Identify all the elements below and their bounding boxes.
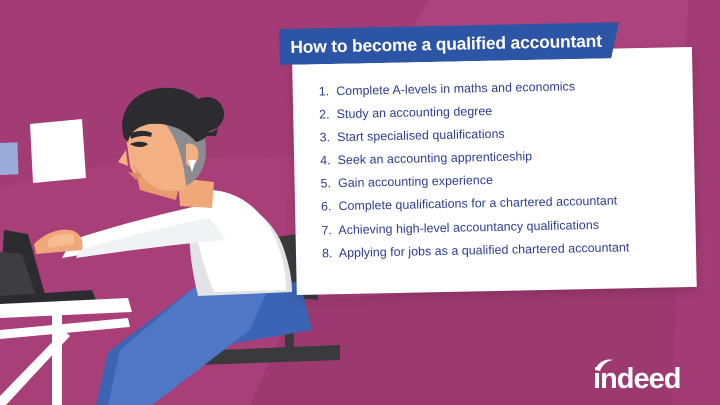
list-item-number: 5. (320, 173, 334, 196)
steps-list: 1. Complete A-levels in maths and econom… (292, 47, 696, 266)
list-item-label: Seek an accounting apprenticeship (337, 149, 532, 167)
list-item-number: 3. (319, 126, 333, 149)
list-item-label: Achieving high-level accountancy qualifi… (338, 217, 599, 236)
list-item-label: Complete qualifications for a chartered … (338, 194, 617, 214)
nose (118, 150, 128, 166)
list-item-label: Applying for jobs as a qualified charter… (339, 240, 630, 260)
indeed-logo: indeed (592, 357, 704, 393)
list-item-label: Gain accounting experience (338, 173, 493, 190)
logo-wordmark: indeed (593, 363, 680, 393)
hair-bun (190, 97, 224, 131)
list-item-number: 1. (319, 80, 333, 103)
list-item-number: 2. (319, 103, 333, 126)
page-title: How to become a qualified accountant (290, 24, 621, 63)
steps-card: 1. Complete A-levels in maths and econom… (292, 55, 692, 295)
list-item-number: 4. (320, 149, 334, 172)
trousers-highlight (108, 284, 270, 405)
list-item-label: Start specialised qualifications (337, 127, 505, 144)
list-item-label: Study an accounting degree (337, 104, 493, 121)
list-item-number: 8. (322, 242, 336, 265)
list-item-number: 7. (321, 219, 335, 242)
infographic-canvas: 1. Complete A-levels in maths and econom… (0, 0, 720, 405)
wall-paper-icon (30, 119, 86, 183)
list-item-label: Complete A-levels in maths and economics (336, 79, 575, 98)
list-item-number: 6. (321, 196, 335, 219)
sticky-note-icon (0, 142, 19, 175)
